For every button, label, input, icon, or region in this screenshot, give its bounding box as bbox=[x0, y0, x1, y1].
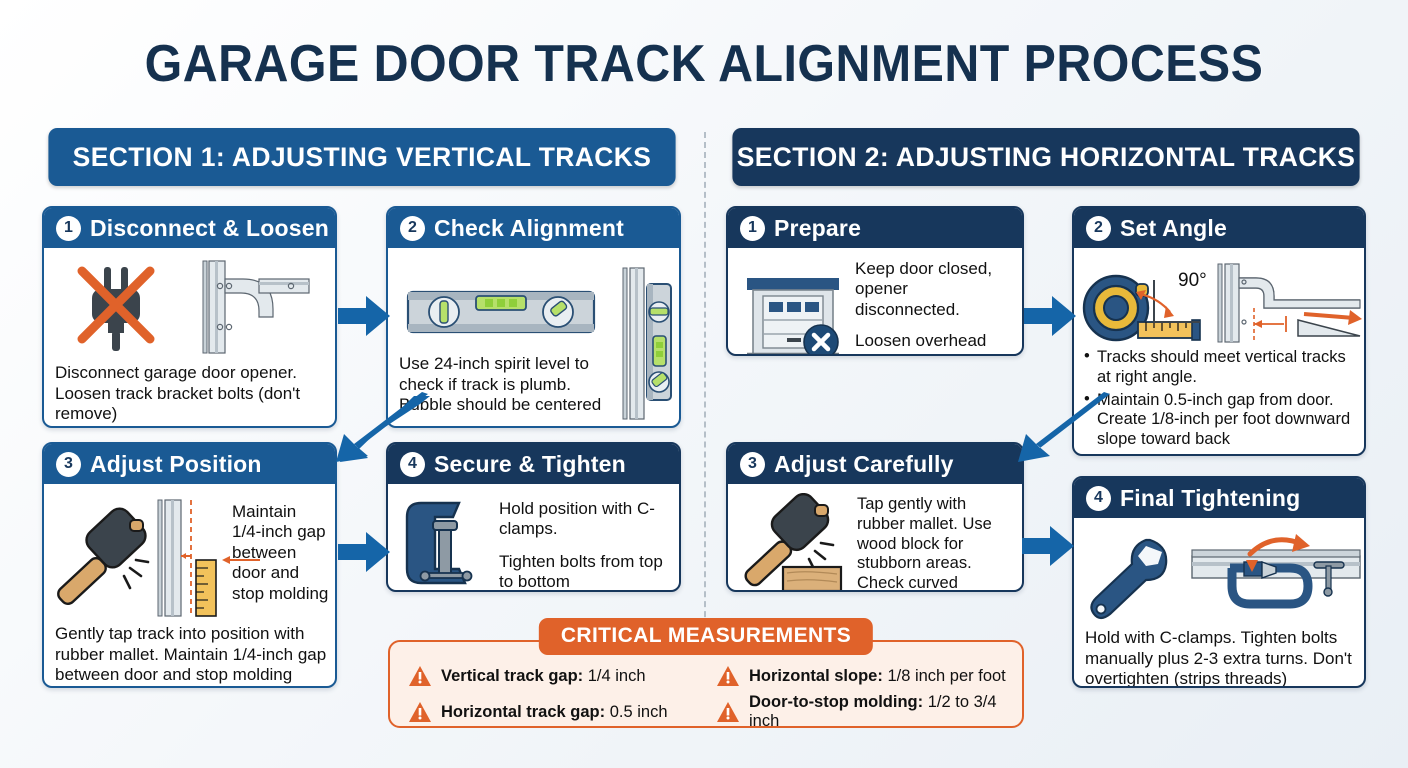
card-description: Hold with C-clamps. Tighten bolts manual… bbox=[1085, 628, 1357, 688]
card-body: Keep door closed, opener disconnected. L… bbox=[728, 248, 1022, 354]
card-s1-step-1[interactable]: 1 Disconnect & Loosen bbox=[42, 206, 337, 428]
warning-triangle-icon bbox=[408, 665, 432, 687]
card-header: 3 Adjust Position bbox=[44, 444, 335, 484]
critical-item: Horizontal track gap: 0.5 inch bbox=[408, 693, 700, 731]
card-s2-step-3[interactable]: 3 Adjust Carefully Tap gently with rubbe… bbox=[726, 442, 1024, 592]
arrow-s2-step1-to-step2 bbox=[1022, 288, 1078, 344]
list-item: Maintain 0.5-inch gap from door. Create … bbox=[1084, 391, 1356, 450]
track-gap-ruler-icon bbox=[156, 498, 226, 618]
card-header: 3 Adjust Carefully bbox=[728, 444, 1022, 484]
card-description: Tap gently with rubber mallet. Use wood … bbox=[857, 493, 1011, 592]
critical-item-value: 1/4 inch bbox=[588, 667, 646, 685]
step-number-badge: 1 bbox=[740, 216, 765, 241]
page-title: GARAGE DOOR TRACK ALIGNMENT PROCESS bbox=[49, 34, 1358, 94]
card-s1-step-3[interactable]: 3 Adjust Position bbox=[42, 442, 337, 688]
critical-measurements-grid: Vertical track gap: 1/4 inch Horizontal … bbox=[408, 665, 1008, 731]
garage-door-closed-icon bbox=[739, 266, 847, 356]
critical-item-name: Door-to-stop molding: bbox=[749, 693, 923, 711]
critical-item-name: Horizontal track gap: bbox=[441, 703, 605, 721]
step-number-badge: 1 bbox=[56, 216, 81, 241]
arrow-s2-step2-to-step3 bbox=[1000, 392, 1120, 464]
card-header: 1 Disconnect & Loosen bbox=[44, 208, 335, 248]
step-number-badge: 3 bbox=[740, 452, 765, 477]
warning-triangle-icon bbox=[716, 665, 740, 687]
critical-item: Door-to-stop molding: 1/2 to 3/4 inch bbox=[716, 693, 1008, 731]
card-s2-step-4[interactable]: 4 Final Tightening Hold with C-clamps. T… bbox=[1072, 476, 1366, 688]
rubber-mallet-icon bbox=[739, 493, 849, 592]
card-body: Hold with C-clamps. Tighten bolts manual… bbox=[1074, 518, 1364, 686]
power-plug-crossed-out-icon bbox=[66, 259, 166, 355]
card-description: Gently tap track into position with rubb… bbox=[55, 624, 327, 686]
horizontal-track-slope-icon bbox=[1212, 262, 1362, 344]
card-header: 2 Check Alignment bbox=[388, 208, 679, 248]
wood-block-icon bbox=[783, 567, 841, 591]
section-1-banner: SECTION 1: ADJUSTING VERTICAL TRACKS bbox=[48, 128, 675, 186]
card-title: Set Angle bbox=[1120, 215, 1227, 242]
warning-triangle-icon bbox=[716, 701, 740, 723]
card-s2-step-1[interactable]: 1 Prepare Keep door closed, opener disc bbox=[726, 206, 1024, 356]
vertical-track-with-level-icon bbox=[621, 266, 673, 421]
step-number-badge: 3 bbox=[56, 452, 81, 477]
critical-item-value: 1/8 inch per foot bbox=[887, 667, 1005, 685]
card-title: Adjust Position bbox=[90, 451, 262, 478]
card-body: Tap gently with rubber mallet. Use wood … bbox=[728, 484, 1022, 590]
c-clamp-icon bbox=[399, 495, 491, 591]
arrow-s1-step3-to-step4 bbox=[336, 524, 392, 580]
card-body: Maintain 1/4-inch gap between door and s… bbox=[44, 484, 335, 686]
critical-measurements-panel: CRITICAL MEASUREMENTS Vertical track gap… bbox=[388, 640, 1024, 728]
card-line-1: Hold position with C-clamps. bbox=[499, 499, 668, 540]
card-line-2: Loosen overhead track bracket bolts bbox=[855, 331, 1011, 356]
critical-item-value: 0.5 inch bbox=[610, 703, 668, 721]
step-number-badge: 2 bbox=[1086, 216, 1111, 241]
card-bullet-list: Tracks should meet vertical tracks at ri… bbox=[1084, 348, 1356, 453]
card-title: Secure & Tighten bbox=[434, 451, 626, 478]
card-line-1: Keep door closed, opener disconnected. bbox=[855, 259, 1011, 320]
card-line-2: Tighten bolts from top to bottom bbox=[499, 552, 668, 592]
track-bracket-diagram-icon bbox=[197, 259, 313, 355]
wrench-icon bbox=[1086, 536, 1176, 624]
card-body: Disconnect garage door opener. Loosen tr… bbox=[44, 248, 335, 426]
gap-annotation: Maintain 1/4-inch gap between door and s… bbox=[232, 502, 330, 604]
arrow-s2-step3-to-step4 bbox=[1020, 518, 1076, 574]
card-description: Disconnect garage door opener. Loosen tr… bbox=[55, 363, 324, 425]
section-2-banner: SECTION 2: ADJUSTING HORIZONTAL TRACKS bbox=[732, 128, 1359, 186]
warning-triangle-icon bbox=[408, 701, 432, 723]
critical-item-name: Horizontal slope: bbox=[749, 667, 883, 685]
spirit-level-icon bbox=[406, 282, 596, 342]
card-title: Adjust Carefully bbox=[774, 451, 954, 478]
card-title: Check Alignment bbox=[434, 215, 624, 242]
step-number-badge: 2 bbox=[400, 216, 425, 241]
card-title: Disconnect & Loosen bbox=[90, 215, 329, 242]
angle-label: 90° bbox=[1178, 270, 1207, 292]
critical-item-name: Vertical track gap: bbox=[441, 667, 583, 685]
list-item: Tracks should meet vertical tracks at ri… bbox=[1084, 348, 1356, 388]
arrow-s1-step1-to-step2 bbox=[336, 288, 392, 344]
card-header: 1 Prepare bbox=[728, 208, 1022, 248]
step-number-badge: 4 bbox=[1086, 486, 1111, 511]
card-title: Prepare bbox=[774, 215, 861, 242]
rubber-mallet-icon bbox=[48, 502, 158, 620]
card-s1-step-4[interactable]: 4 Secure & Tighten Hold position with C-… bbox=[386, 442, 681, 592]
card-header: 4 Final Tightening bbox=[1074, 478, 1364, 518]
critical-item: Vertical track gap: 1/4 inch bbox=[408, 665, 700, 687]
critical-item: Horizontal slope: 1/8 inch per foot bbox=[716, 665, 1008, 687]
arrow-s1-step2-to-step3 bbox=[318, 392, 438, 464]
card-header: 2 Set Angle bbox=[1074, 208, 1364, 248]
card-body: Hold position with C-clamps. Tighten bol… bbox=[388, 484, 679, 590]
card-title: Final Tightening bbox=[1120, 485, 1300, 512]
critical-measurements-title: CRITICAL MEASUREMENTS bbox=[539, 618, 873, 655]
c-clamp-on-track-icon bbox=[1190, 532, 1362, 620]
